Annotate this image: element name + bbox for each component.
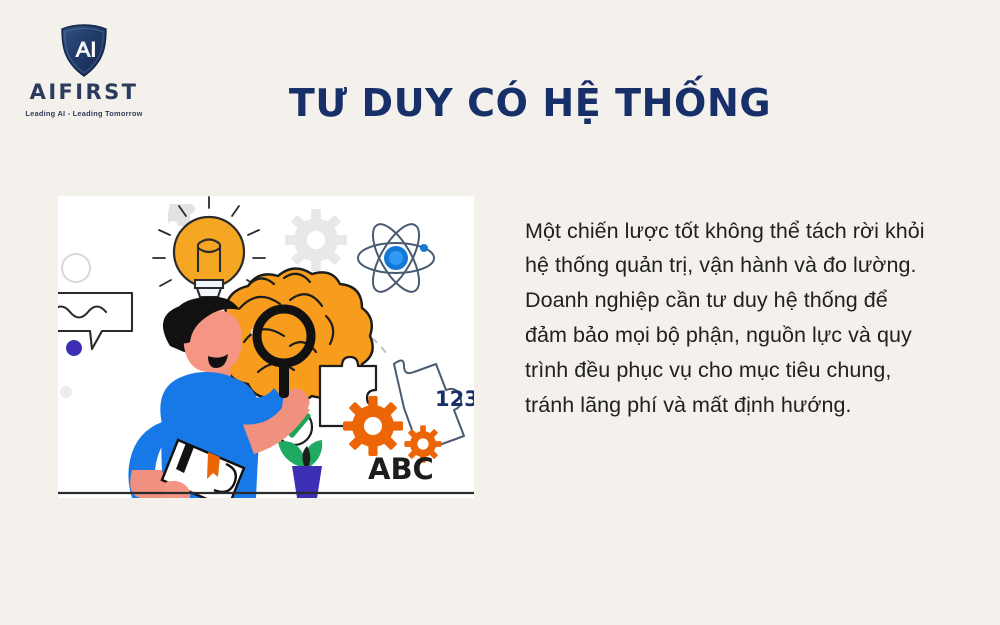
brand-tagline: Leading AI - Leading Tomorrow (22, 110, 146, 117)
brand-logo: AIFIRST Leading AI - Leading Tomorrow (22, 24, 146, 117)
brand-wordmark: AIFIRST (22, 82, 146, 103)
gear-icon-large (343, 396, 403, 456)
ai-shield-icon (22, 24, 146, 78)
illustration-panel: 123 (58, 196, 474, 498)
puzzle-number-label: 123 (435, 387, 474, 411)
page-title: TƯ DUY CÓ HỆ THỐNG (180, 82, 880, 126)
gear-icon-grey (285, 209, 347, 271)
decor-dot-blue (66, 340, 82, 356)
decor-dot-grey-2 (60, 386, 72, 398)
body-paragraph: Một chiến lược tốt không thể tách rời kh… (525, 214, 925, 423)
abc-label: ABC (368, 452, 434, 486)
